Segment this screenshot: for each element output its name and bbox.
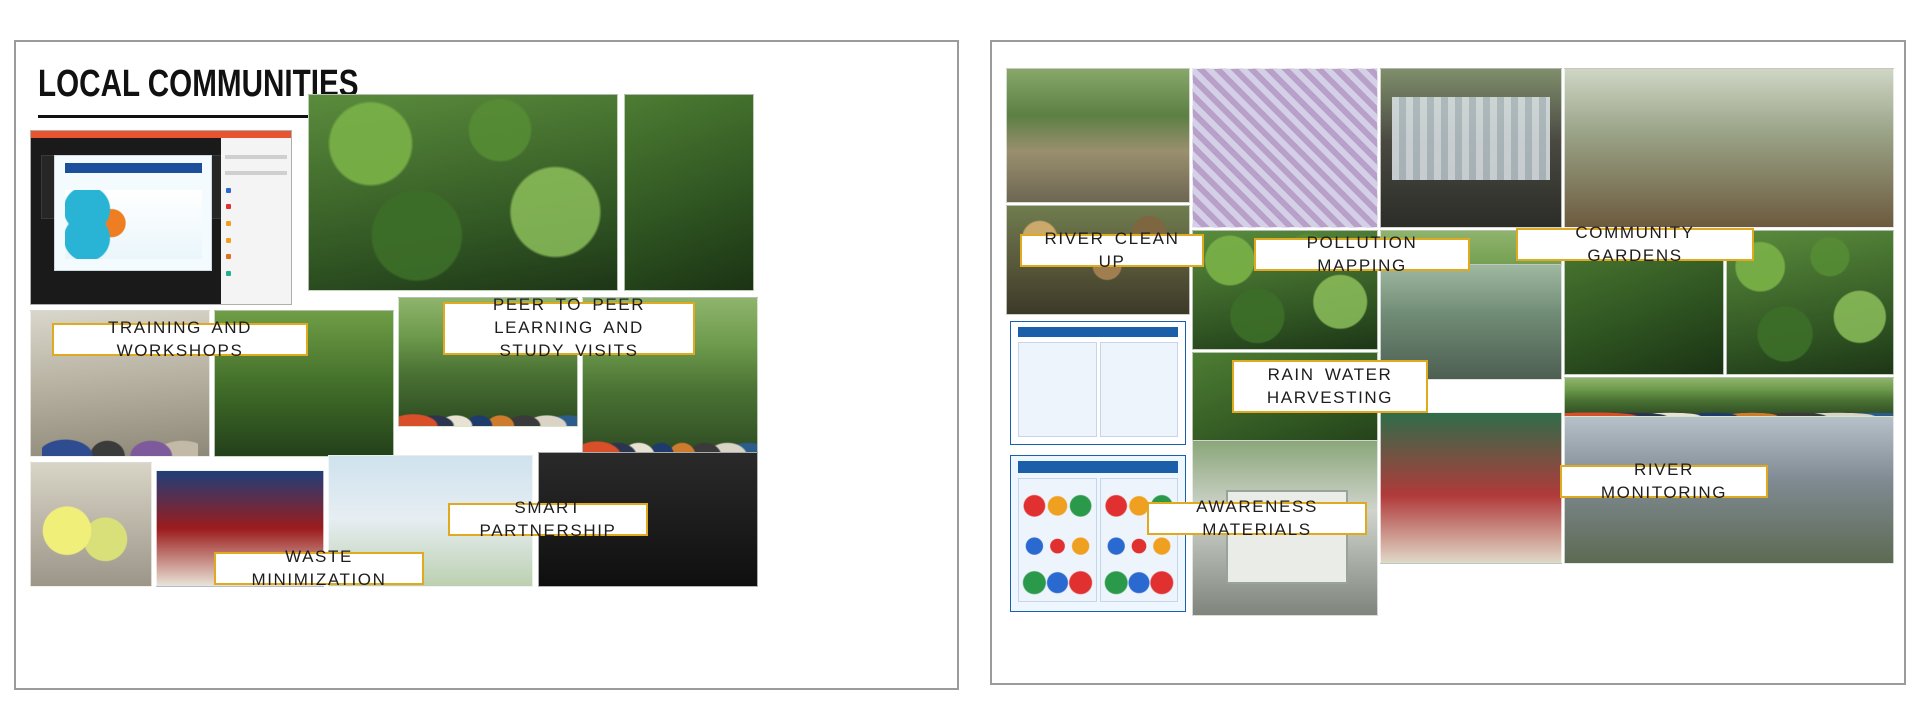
- photo-pollution-survey-photo: [1192, 68, 1378, 228]
- local-communities-panel: LOCAL COMMUNITIES: [14, 40, 959, 690]
- caption-smart-partnership: SMART PARTNERSHIP: [448, 503, 648, 536]
- slide-root: LOCAL COMMUNITIES: [0, 0, 1920, 721]
- photo-community-kitchen-photo: [1380, 412, 1562, 564]
- photo-recycled-bags-photo: [30, 462, 152, 587]
- photo-garden-visit-photo: [624, 94, 754, 291]
- caption-peer-to-peer-learning: PEER TO PEER LEARNING AND STUDY VISITS: [443, 302, 695, 355]
- photo-awareness-poster-top: [1006, 317, 1190, 449]
- title-underline: [38, 115, 309, 118]
- photo-community-garden-group-photo: [308, 94, 618, 291]
- caption-community-gardens: COMMUNITY GARDENS: [1516, 228, 1754, 261]
- photo-river-bank-cleanup-photo: [1006, 68, 1190, 203]
- caption-river-monitoring: RIVER MONITORING: [1560, 465, 1768, 498]
- photo-seedling-pots-photo: [1380, 68, 1562, 228]
- photo-raised-garden-beds-photo: [1564, 68, 1894, 228]
- caption-rain-water-harvesting: RAIN WATER HARVESTING: [1232, 360, 1428, 413]
- photo-group-briefing-photo: [1564, 377, 1894, 417]
- caption-river-clean-up: RIVER CLEAN UP: [1020, 234, 1204, 267]
- caption-awareness-materials: AWARENESS MATERIALS: [1147, 502, 1367, 535]
- programmes-photo-panel: RIVER CLEAN UP POLLUTION MAPPING COMMUNI…: [990, 40, 1906, 685]
- caption-training-and-workshops: TRAINING AND WORKSHOPS: [52, 323, 308, 356]
- caption-pollution-mapping: POLLUTION MAPPING: [1254, 238, 1470, 271]
- photo-zoom-webinar-screenshot: [30, 130, 292, 305]
- caption-waste-minimization: WASTE MINIMIZATION: [214, 552, 424, 585]
